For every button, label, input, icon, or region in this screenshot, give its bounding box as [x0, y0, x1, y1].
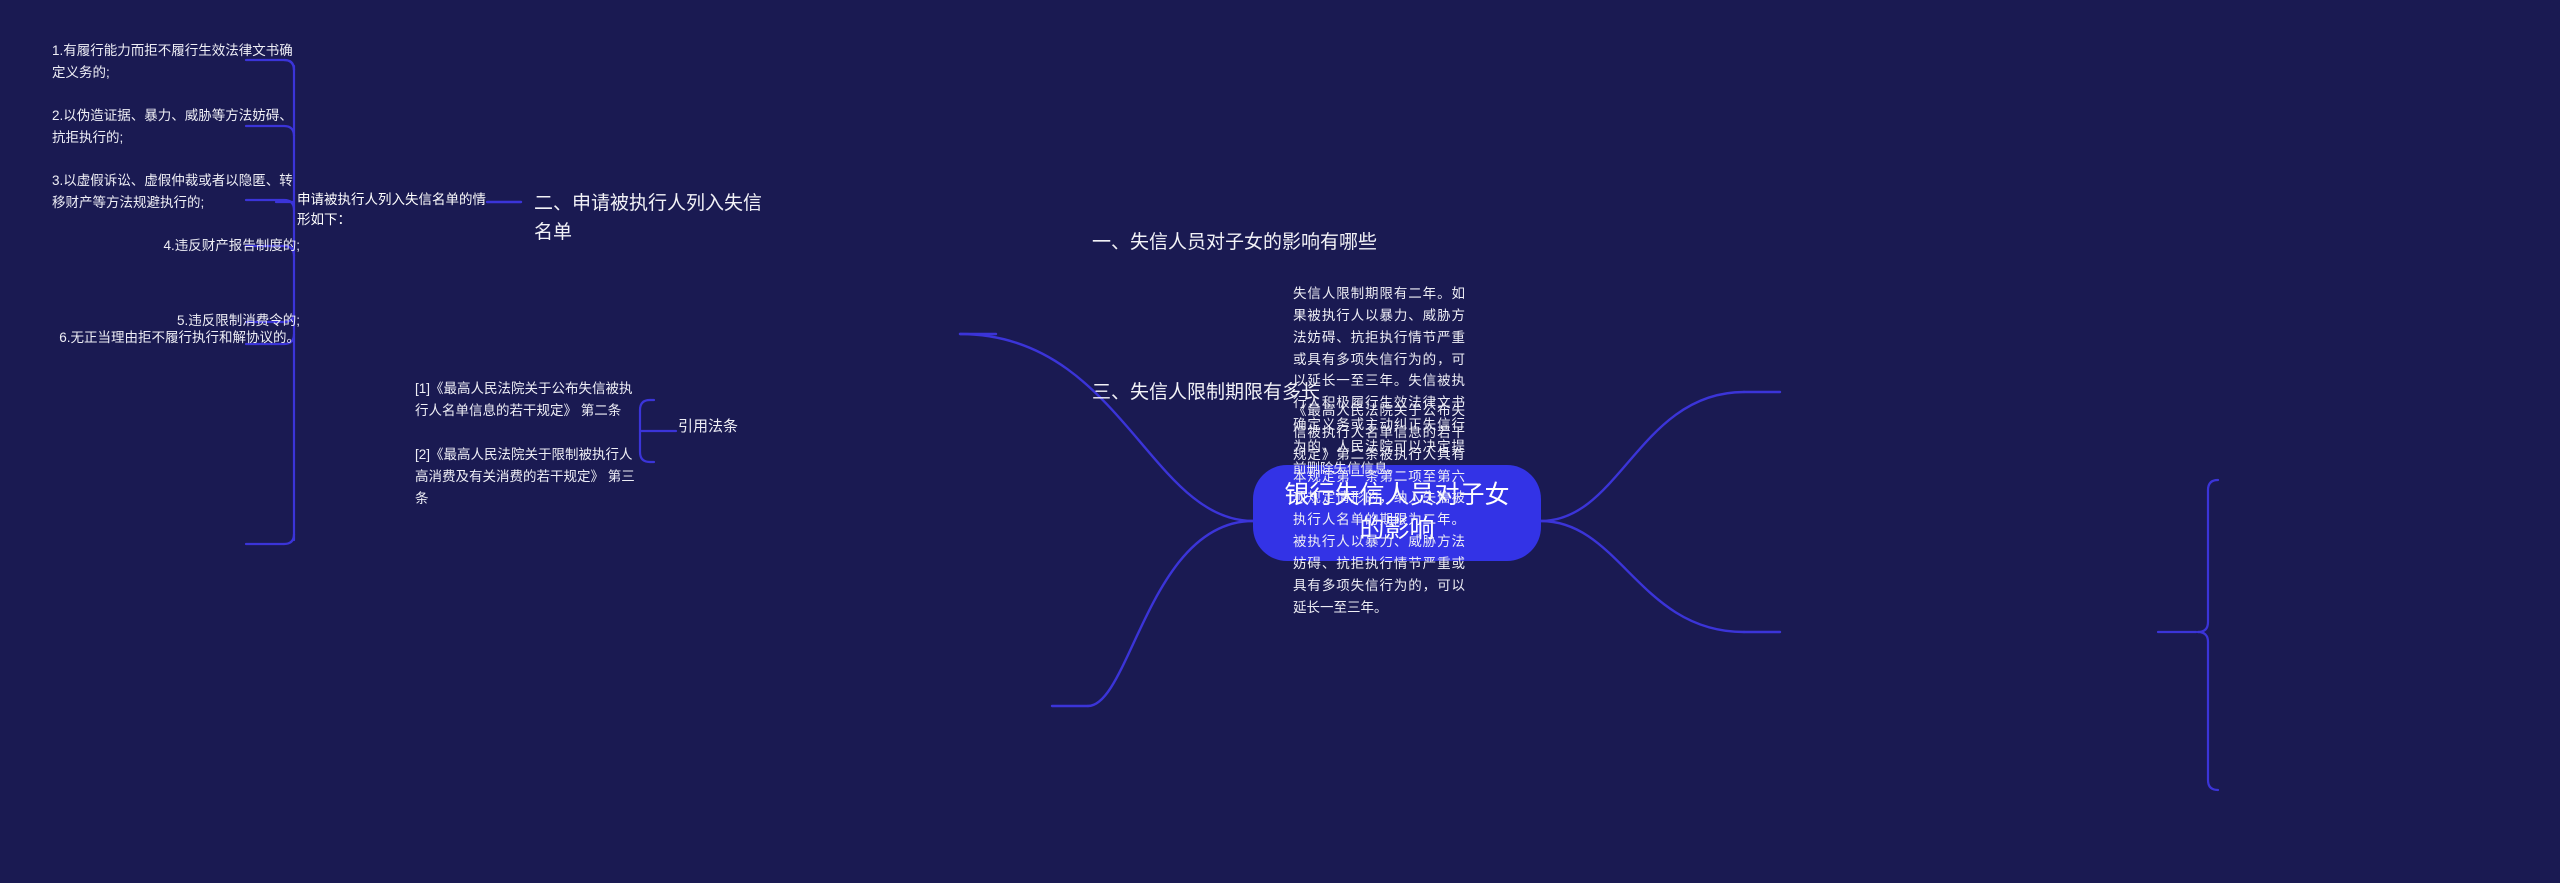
citation-item-2[interactable]: [2]《最高人民法院关于限制被执行人高消费及有关消费的若干规定》 第三条 [415, 444, 645, 510]
list-item-condition-4[interactable]: 4.违反财产报告制度的; [52, 235, 300, 257]
note-paragraph-2[interactable]: 《最高人民法院关于公布失信被执行人名单信息的若干规定》第二条被执行人具有本规定第… [1293, 400, 1465, 619]
list-item-condition-3[interactable]: 3.以虚假诉讼、虚假仲裁或者以隐匿、转移财产等方法规避执行的; [52, 170, 300, 214]
group-label-conditions[interactable]: 申请被执行人列入失信名单的情形如下： [297, 190, 487, 231]
topic-node-one[interactable]: 一、失信人员对子女的影响有哪些 [1092, 229, 1422, 258]
list-item-condition-1[interactable]: 1.有履行能力而拒不履行生效法律文书确定义务的; [52, 40, 300, 84]
citation-item-1[interactable]: [1]《最高人民法院关于公布失信被执行人名单信息的若干规定》 第二条 [415, 378, 645, 422]
list-item-condition-6[interactable]: 6.无正当理由拒不履行执行和解协议的。 [52, 327, 300, 349]
group-label-citations[interactable]: 引用法条 [678, 416, 798, 439]
mindmap-canvas: 银行失信人员对子女的影响 1.有履行能力而拒不履行生效法律文书确定义务的; 2.… [0, 0, 2560, 883]
connector-lines [0, 0, 2560, 883]
topic-node-two[interactable]: 二、申请被执行人列入失信名单 [534, 190, 764, 247]
list-item-condition-2[interactable]: 2.以伪造证据、暴力、威胁等方法妨碍、抗拒执行的; [52, 105, 300, 149]
